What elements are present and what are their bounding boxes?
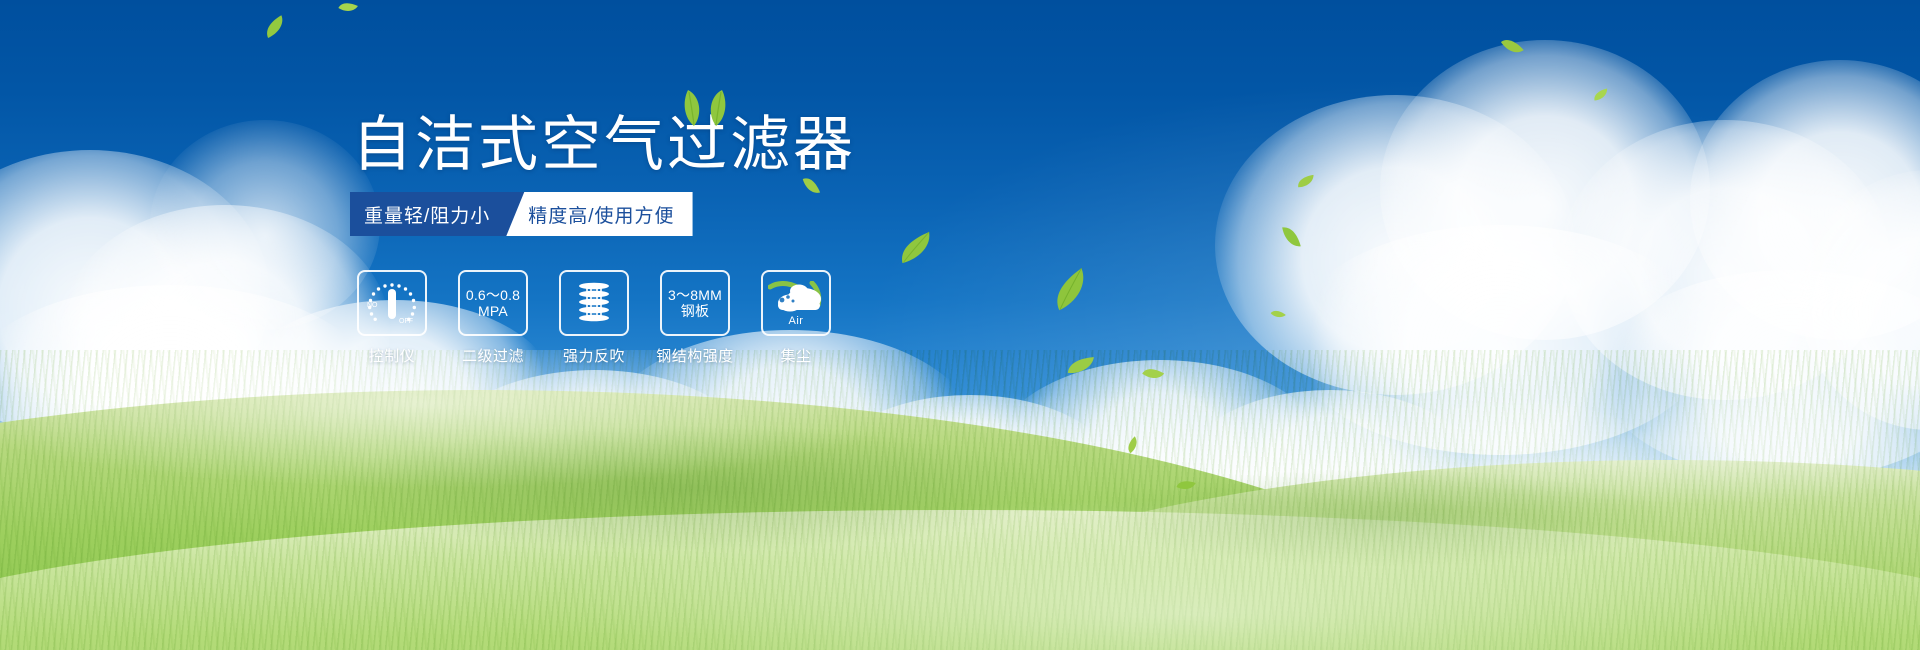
feature-item-dust-collection[interactable]: Air 集尘 bbox=[760, 270, 832, 366]
page-title: 自洁式空气过滤器 bbox=[352, 115, 856, 175]
feature-tabs: 重量轻/阻力小 精度高/使用方便 bbox=[350, 192, 693, 236]
feature-label: 强力反吹 bbox=[563, 345, 625, 366]
svg-text:OFF: OFF bbox=[399, 318, 413, 325]
filter-cartridge-icon bbox=[570, 279, 618, 327]
product-banner: 自洁式空气过滤器 重量轻/阻力小 精度高/使用方便 bbox=[0, 0, 1920, 650]
feature-item-controller[interactable]: NO OFF 控制仪 bbox=[356, 270, 428, 366]
feature-item-steel-strength[interactable]: 3～8MM 钢板 钢结构强度 bbox=[659, 270, 731, 366]
banner-content: 自洁式空气过滤器 重量轻/阻力小 精度高/使用方便 bbox=[0, 0, 1920, 650]
feature-item-two-stage-filtration[interactable]: 0.6～0.8 MPA 二级过滤 bbox=[457, 270, 529, 366]
title-leaf-pair-icon bbox=[676, 88, 734, 133]
tab-highprecision-easyuse[interactable]: 精度高/使用方便 bbox=[506, 192, 692, 236]
feature-item-powerful-backblow[interactable]: 强力反吹 bbox=[558, 270, 630, 366]
pressure-value: 0.6～0.8 bbox=[466, 287, 520, 303]
steel-material: 钢板 bbox=[668, 303, 722, 319]
feature-label: 钢结构强度 bbox=[656, 345, 734, 366]
tab-lightweight-lowresistance[interactable]: 重量轻/阻力小 bbox=[350, 192, 524, 236]
feature-label: 二级过滤 bbox=[462, 345, 524, 366]
controller-icon-box: NO OFF bbox=[357, 270, 427, 336]
gauge-icon: NO OFF bbox=[366, 279, 418, 327]
air-caption: Air bbox=[763, 315, 829, 327]
steel-plate-icon-box: 3～8MM 钢板 bbox=[660, 270, 730, 336]
steel-thickness: 3～8MM bbox=[668, 287, 722, 303]
pressure-icon-box: 0.6～0.8 MPA bbox=[458, 270, 528, 336]
feature-label: 集尘 bbox=[780, 345, 811, 366]
pressure-unit: MPA bbox=[466, 303, 520, 319]
steel-plate-icon: 3～8MM 钢板 bbox=[668, 287, 722, 319]
feature-label: 控制仪 bbox=[369, 345, 416, 366]
feature-icon-row: NO OFF 控制仪 0.6～0.8 MPA 二级过滤 bbox=[356, 270, 832, 366]
pressure-icon: 0.6～0.8 MPA bbox=[466, 287, 520, 319]
svg-text:NO: NO bbox=[367, 302, 378, 309]
dust-collection-icon-box: Air bbox=[761, 270, 831, 336]
backblow-icon-box bbox=[559, 270, 629, 336]
